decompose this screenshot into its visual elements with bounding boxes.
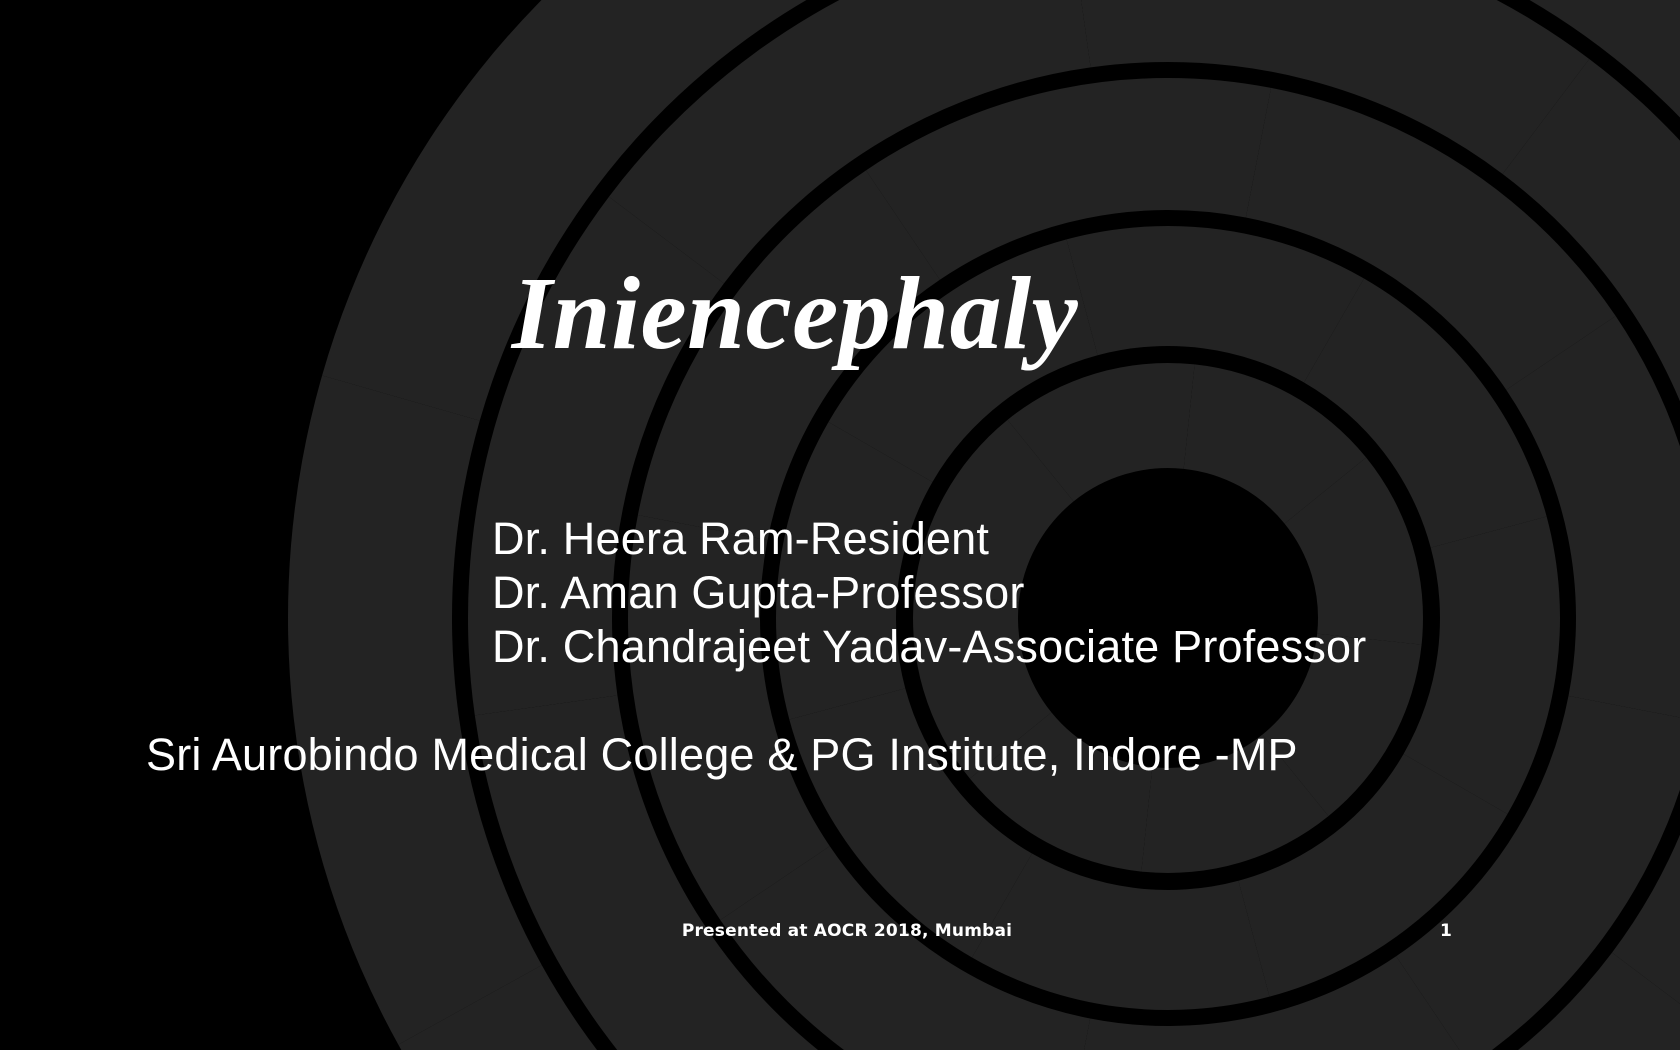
page-title: Iniencephaly xyxy=(512,262,1078,366)
title-block: Iniencephaly xyxy=(0,262,1680,366)
presentation-slide: Iniencephaly Dr. Heera Ram-Resident Dr. … xyxy=(0,0,1680,1050)
author-line-2: Dr. Aman Gupta-Professor xyxy=(492,566,1612,620)
institution-block: Sri Aurobindo Medical College & PG Insti… xyxy=(146,728,1626,782)
slide-number: 1 xyxy=(1440,921,1500,941)
slide-footer: Presented at AOCR 2018, Mumbai 1 xyxy=(0,921,1680,981)
author-line-3: Dr. Chandrajeet Yadav-Associate Professo… xyxy=(492,620,1612,674)
institution-affiliation: Sri Aurobindo Medical College & PG Insti… xyxy=(146,728,1626,782)
author-line-1: Dr. Heera Ram-Resident xyxy=(492,512,1612,566)
footer-presentation-note: Presented at AOCR 2018, Mumbai xyxy=(0,921,1680,941)
authors-block: Dr. Heera Ram-Resident Dr. Aman Gupta-Pr… xyxy=(492,512,1612,674)
